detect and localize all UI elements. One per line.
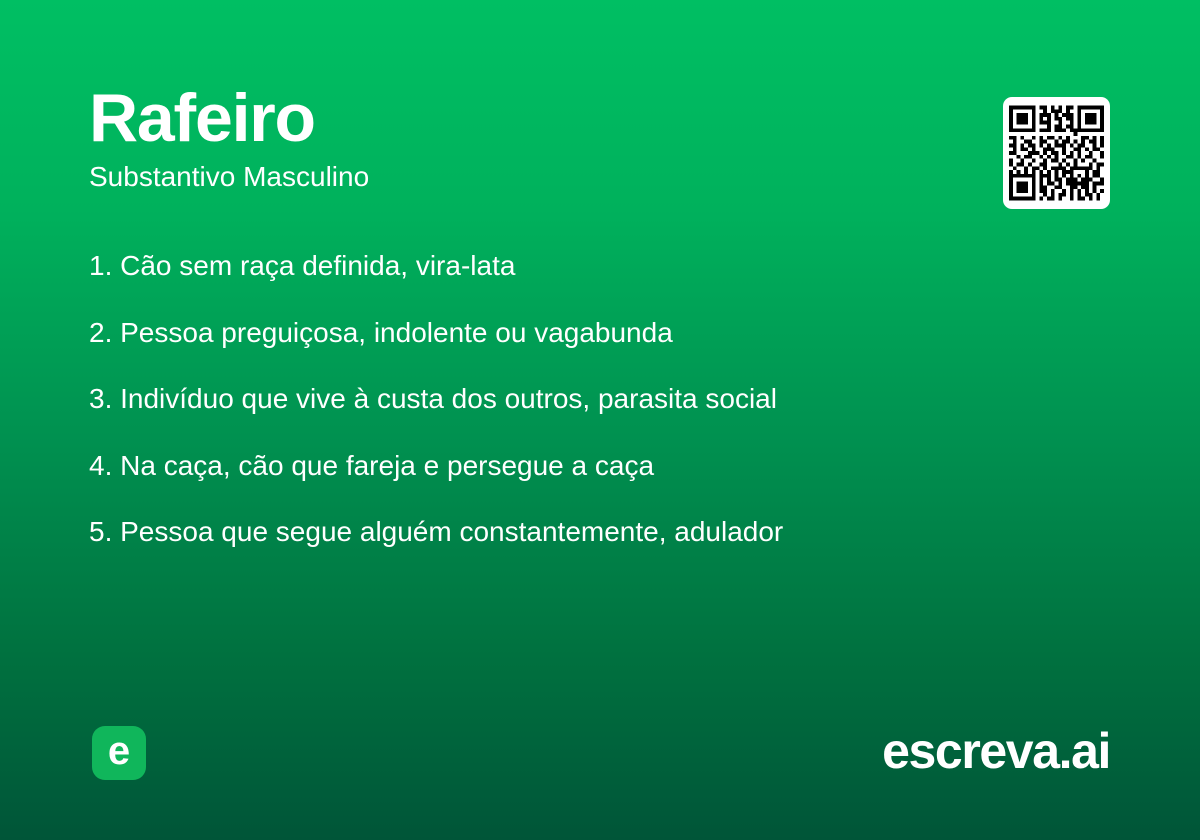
word-definition-card: Rafeiro Substantivo Masculino 1. Cão sem… <box>0 0 1200 840</box>
qr-code-icon[interactable] <box>1003 97 1110 209</box>
page-title: Rafeiro <box>89 84 949 152</box>
list-item: 1. Cão sem raça definida, vira-lata <box>89 246 1089 313</box>
logo-letter: e <box>108 731 130 771</box>
header-block: Rafeiro Substantivo Masculino <box>89 84 949 193</box>
list-item: 2. Pessoa preguiçosa, indolente ou vagab… <box>89 313 1089 380</box>
list-item: 3. Indivíduo que vive à custa dos outros… <box>89 379 1089 446</box>
list-item: 5. Pessoa que segue alguém constantement… <box>89 512 1089 579</box>
escreva-logo-icon[interactable]: e <box>92 726 146 780</box>
word-class-label: Substantivo Masculino <box>89 152 949 193</box>
definitions-list: 1. Cão sem raça definida, vira-lata 2. P… <box>89 246 1089 579</box>
list-item: 4. Na caça, cão que fareja e persegue a … <box>89 446 1089 513</box>
brand-wordmark: escreva.ai <box>882 724 1110 779</box>
